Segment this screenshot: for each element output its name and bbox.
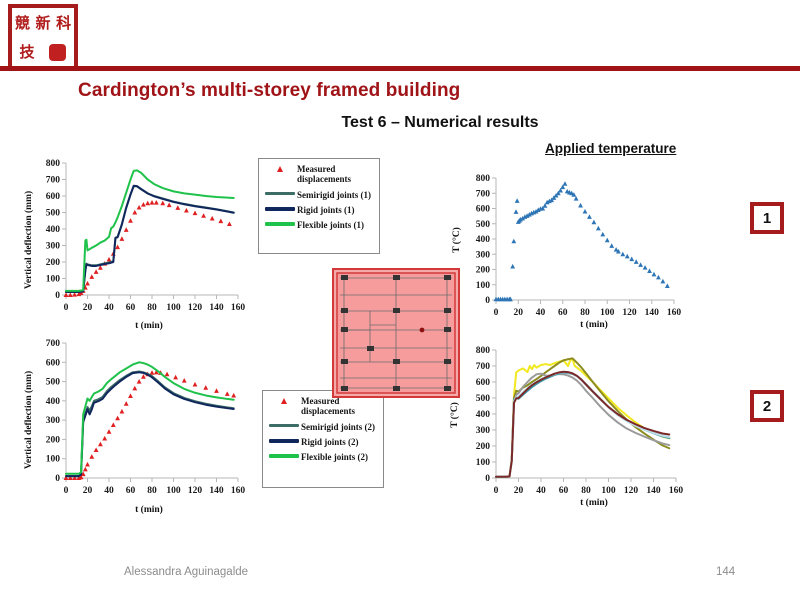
applied-temperature-heading: Applied temperature	[545, 141, 676, 156]
floor-plan-svg	[334, 270, 458, 396]
svg-text:500: 500	[476, 394, 491, 404]
svg-text:20: 20	[83, 486, 93, 496]
chart-4-plot: 0100200300400500600700800020406080100120…	[444, 340, 694, 515]
chart-deflection-2: Vertical deflection (mm) t (min) 0100200…	[14, 335, 249, 520]
chart-3-plot: 0100200300400500600700800020406080100120…	[444, 170, 694, 335]
svg-text:0: 0	[485, 296, 490, 306]
legend-item: Semirigid joints (1)	[263, 190, 375, 200]
svg-text:100: 100	[601, 486, 616, 496]
svg-text:80: 80	[581, 486, 591, 496]
svg-text:800: 800	[46, 159, 61, 169]
svg-text:160: 160	[669, 486, 684, 496]
svg-text:500: 500	[46, 209, 61, 219]
svg-text:300: 300	[46, 242, 61, 252]
svg-text:0: 0	[55, 291, 60, 301]
svg-text:0: 0	[55, 474, 60, 484]
svg-text:40: 40	[104, 486, 114, 496]
svg-text:60: 60	[558, 308, 568, 318]
triangle-marker-icon	[263, 164, 297, 172]
svg-text:120: 120	[622, 308, 637, 318]
footer-author: Alessandra Aguinagalde	[124, 566, 248, 578]
line-swatch-icon	[267, 422, 301, 427]
chart-1-plot: 0100200300400500600700800020406080100120…	[14, 155, 249, 335]
legend-item: Rigid joints (1)	[263, 205, 375, 215]
svg-text:700: 700	[476, 189, 491, 199]
chart-2-legend: Measured displacements Semirigid joints …	[262, 390, 384, 488]
svg-text:0: 0	[494, 486, 499, 496]
svg-text:500: 500	[46, 378, 61, 388]
svg-text:600: 600	[476, 205, 491, 215]
legend-label: Semirigid joints (2)	[301, 422, 375, 432]
legend-label: Flexible joints (1)	[297, 220, 364, 230]
header-divider	[0, 66, 800, 71]
legend-label: Semirigid joints (1)	[297, 190, 371, 200]
legend-item: Semirigid joints (2)	[267, 422, 379, 432]
line-swatch-icon	[263, 220, 297, 226]
svg-text:160: 160	[231, 486, 246, 496]
svg-text:200: 200	[476, 266, 491, 276]
svg-text:80: 80	[147, 486, 157, 496]
footer-page-number: 144	[716, 566, 735, 578]
svg-text:600: 600	[476, 378, 491, 388]
svg-text:700: 700	[46, 339, 61, 349]
svg-text:60: 60	[559, 486, 569, 496]
svg-text:20: 20	[514, 486, 524, 496]
svg-text:300: 300	[476, 426, 491, 436]
callout-badge-1: 1	[750, 202, 784, 234]
svg-text:140: 140	[209, 486, 224, 496]
legend-label: Flexible joints (2)	[301, 452, 368, 462]
svg-text:500: 500	[476, 220, 491, 230]
legend-item: Rigid joints (2)	[267, 437, 379, 447]
svg-text:120: 120	[188, 486, 203, 496]
svg-text:120: 120	[624, 486, 639, 496]
svg-text:60: 60	[126, 486, 136, 496]
svg-text:80: 80	[580, 308, 590, 318]
svg-text:0: 0	[494, 308, 499, 318]
svg-text:140: 140	[209, 303, 224, 313]
svg-text:200: 200	[46, 258, 61, 268]
svg-text:400: 400	[46, 397, 61, 407]
svg-text:100: 100	[166, 303, 181, 313]
page-subtitle: Test 6 – Numerical results	[180, 114, 700, 132]
svg-text:80: 80	[147, 303, 157, 313]
line-swatch-icon	[267, 437, 301, 443]
line-swatch-icon	[263, 205, 297, 211]
svg-text:160: 160	[231, 303, 246, 313]
legend-item: Flexible joints (1)	[263, 220, 375, 230]
svg-text:100: 100	[46, 275, 61, 285]
building-floor-plan-diagram	[332, 268, 460, 398]
svg-text:400: 400	[476, 235, 491, 245]
legend-item: Flexible joints (2)	[267, 452, 379, 462]
svg-text:300: 300	[476, 250, 491, 260]
chart-2-plot: 0100200300400500600700020406080100120140…	[14, 335, 249, 520]
svg-text:0: 0	[485, 474, 490, 484]
chart-measured-temperatures: T (°C) t (min) 0100200300400500600700800…	[444, 340, 694, 515]
svg-text:100: 100	[476, 281, 491, 291]
svg-text:600: 600	[46, 358, 61, 368]
chart-applied-temperature: T (°C) t (min) 0100200300400500600700800…	[444, 170, 694, 335]
svg-text:20: 20	[514, 308, 524, 318]
svg-text:20: 20	[83, 303, 93, 313]
svg-text:40: 40	[104, 303, 114, 313]
svg-text:700: 700	[476, 362, 491, 372]
svg-text:300: 300	[46, 416, 61, 426]
svg-text:0: 0	[64, 486, 69, 496]
legend-item: Measured displacements	[263, 164, 375, 185]
svg-text:400: 400	[46, 225, 61, 235]
callout-badge-2: 2	[750, 390, 784, 422]
triangle-marker-icon	[267, 396, 301, 404]
svg-text:140: 140	[645, 308, 660, 318]
svg-text:40: 40	[536, 308, 546, 318]
svg-text:200: 200	[476, 442, 491, 452]
svg-text:40: 40	[536, 486, 546, 496]
svg-text:800: 800	[476, 346, 491, 356]
svg-text:200: 200	[46, 435, 61, 445]
legend-label: Rigid joints (1)	[297, 205, 355, 215]
svg-text:60: 60	[126, 303, 136, 313]
svg-text:800: 800	[476, 174, 491, 184]
svg-text:160: 160	[667, 308, 682, 318]
svg-text:120: 120	[188, 303, 203, 313]
chart-1-legend: Measured displacements Semirigid joints …	[258, 158, 380, 254]
seal-logo: 競 新 科 技	[8, 4, 78, 70]
line-swatch-icon	[263, 190, 297, 195]
svg-text:100: 100	[46, 455, 61, 465]
svg-text:100: 100	[476, 458, 491, 468]
svg-text:100: 100	[600, 308, 615, 318]
svg-text:700: 700	[46, 176, 61, 186]
svg-text:100: 100	[166, 486, 181, 496]
chart-deflection-1: Vertical deflection (mm) t (min) 0100200…	[14, 155, 249, 335]
page-title: Cardington’s multi-storey framed buildin…	[78, 80, 738, 102]
svg-text:140: 140	[646, 486, 661, 496]
svg-text:600: 600	[46, 192, 61, 202]
legend-label: Rigid joints (2)	[301, 437, 359, 447]
legend-label: Measured displacements	[297, 164, 375, 185]
svg-text:0: 0	[64, 303, 69, 313]
svg-text:400: 400	[476, 410, 491, 420]
line-swatch-icon	[267, 452, 301, 458]
